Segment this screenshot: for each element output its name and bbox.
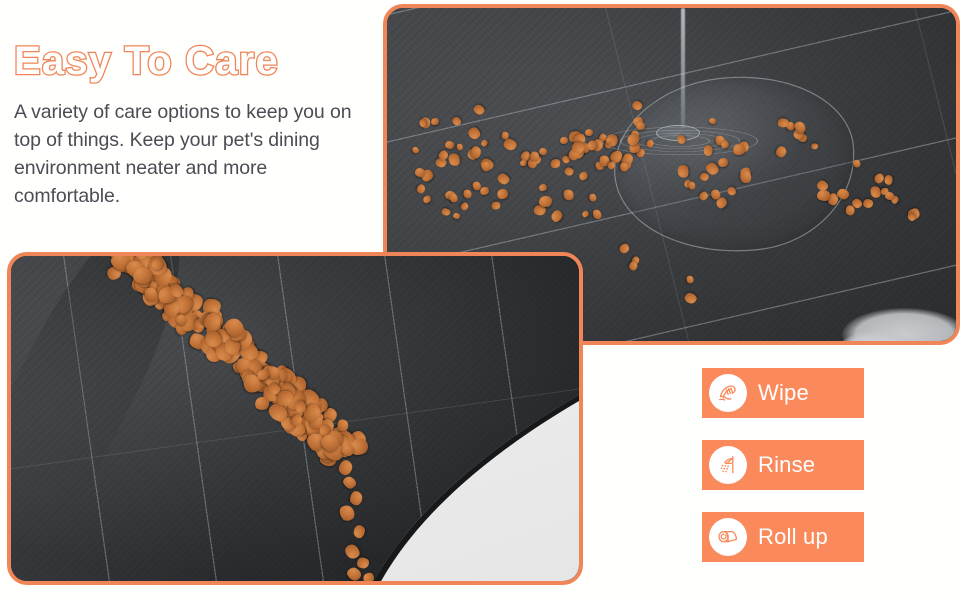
kibble-piece — [444, 140, 453, 148]
badge-roll-up[interactable]: Roll up — [702, 512, 864, 562]
badge-label: Wipe — [758, 382, 809, 404]
kibble-piece — [530, 151, 539, 161]
care-badge-list: Wipe — [702, 368, 864, 562]
badge-label: Roll up — [758, 526, 828, 548]
kibble-piece — [636, 121, 646, 130]
photo-kibble-pour-off — [11, 256, 579, 581]
kibble-piece — [703, 145, 713, 156]
body-copy: A variety of care options to keep you on… — [14, 98, 374, 210]
badge-label: Rinse — [758, 454, 815, 476]
page-title: Easy To Care — [14, 40, 386, 82]
badge-rinse[interactable]: Rinse — [702, 440, 864, 490]
roll-up-mat-icon — [709, 518, 747, 556]
photo-panel-roll-off — [7, 252, 583, 585]
text-block: Easy To Care A variety of care options t… — [14, 40, 386, 210]
kibble-piece — [884, 175, 893, 185]
promo-banner: Easy To Care A variety of care options t… — [0, 0, 970, 600]
wipe-hand-cloth-icon — [709, 374, 747, 412]
water-stream — [681, 8, 685, 128]
rinse-shower-head-icon — [709, 446, 747, 484]
badge-wipe[interactable]: Wipe — [702, 368, 864, 418]
kibble-piece — [817, 190, 830, 201]
kibble-piece — [419, 119, 427, 128]
kibble-piece — [700, 173, 709, 181]
